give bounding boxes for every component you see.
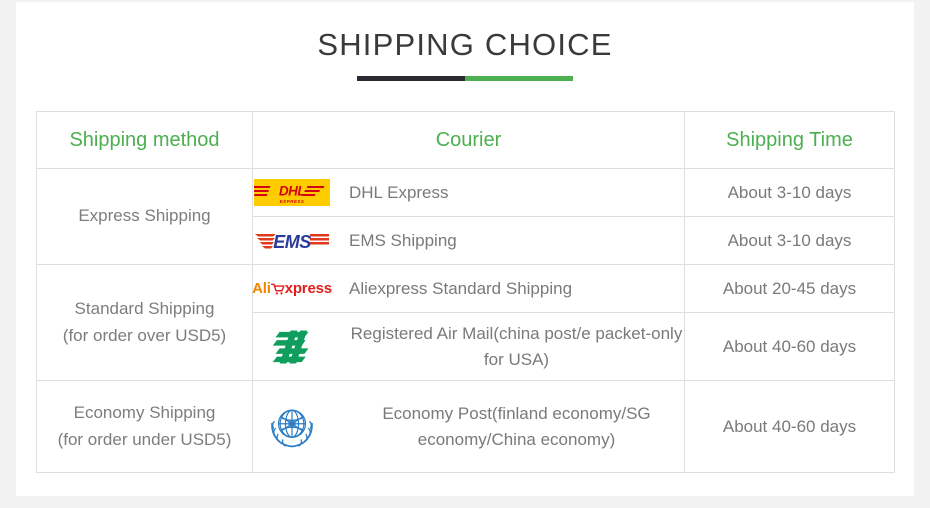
method-label-line1: Standard Shipping [37, 296, 252, 322]
svg-text:DHL: DHL [279, 184, 305, 199]
courier-cell-dhl: DHL EXPRESS DHL Express [253, 169, 685, 217]
method-cell-standard: Standard Shipping (for order over USD5) [37, 265, 253, 381]
shipping-time-cell: About 40-60 days [685, 313, 895, 381]
page-background: SHIPPING CHOICE Shipping method Courier … [0, 0, 930, 508]
underline-dark-segment [357, 76, 465, 81]
table-row: Economy Shipping (for order under USD5) [37, 381, 895, 473]
shipping-card: SHIPPING CHOICE Shipping method Courier … [16, 2, 914, 496]
underline-green-segment [465, 76, 573, 81]
method-label-line2: (for order over USD5) [37, 323, 252, 349]
column-header-shipping-time: Shipping Time [685, 112, 895, 169]
aliexpress-logo: Ali xpress [253, 280, 331, 297]
courier-name: Aliexpress Standard Shipping [349, 276, 572, 302]
shipping-time-cell: About 40-60 days [685, 381, 895, 473]
courier-name: Economy Post(finland economy/SG economy/… [349, 401, 684, 452]
column-header-shipping-method: Shipping method [37, 112, 253, 169]
shipping-time-cell: About 20-45 days [685, 265, 895, 313]
shipping-time-cell: About 3-10 days [685, 169, 895, 217]
column-header-courier: Courier [253, 112, 685, 169]
aliexpress-logo-text-ali: Ali [252, 280, 271, 297]
shipping-table: Shipping method Courier Shipping Time Ex… [36, 111, 895, 473]
method-label-line1: Express Shipping [78, 206, 210, 225]
courier-cell-china-post: Registered Air Mail(china post/e packet-… [253, 313, 685, 381]
table-row: Express Shipping [37, 169, 895, 217]
courier-cell-economy-post: Economy Post(finland economy/SG economy/… [253, 381, 685, 473]
ems-logo: EMS [253, 227, 331, 255]
method-cell-express: Express Shipping [37, 169, 253, 265]
courier-name: DHL Express [349, 180, 449, 206]
courier-name: EMS Shipping [349, 228, 457, 254]
title-block: SHIPPING CHOICE [16, 2, 914, 81]
svg-text:EMS: EMS [273, 232, 311, 252]
svg-text:EXPRESS: EXPRESS [280, 199, 305, 204]
shipping-time-cell: About 3-10 days [685, 217, 895, 265]
dhl-logo: DHL EXPRESS [253, 179, 331, 206]
china-post-logo [253, 325, 331, 369]
courier-name: Registered Air Mail(china post/e packet-… [349, 321, 684, 372]
courier-cell-aliexpress: Ali xpress [253, 265, 685, 313]
shopping-cart-icon [271, 282, 285, 296]
courier-cell-ems: EMS EMS Shipping [253, 217, 685, 265]
shipping-table-wrapper: Shipping method Courier Shipping Time Ex… [36, 111, 894, 473]
table-header-row: Shipping method Courier Shipping Time [37, 112, 895, 169]
page-title: SHIPPING CHOICE [16, 28, 914, 62]
method-cell-economy: Economy Shipping (for order under USD5) [37, 381, 253, 473]
un-emblem-logo [253, 400, 331, 454]
aliexpress-logo-text-xpress: xpress [285, 280, 332, 297]
title-underline [357, 76, 573, 81]
method-label-line1: Economy Shipping [37, 400, 252, 426]
table-row: Standard Shipping (for order over USD5) … [37, 265, 895, 313]
method-label-line2: (for order under USD5) [37, 427, 252, 453]
